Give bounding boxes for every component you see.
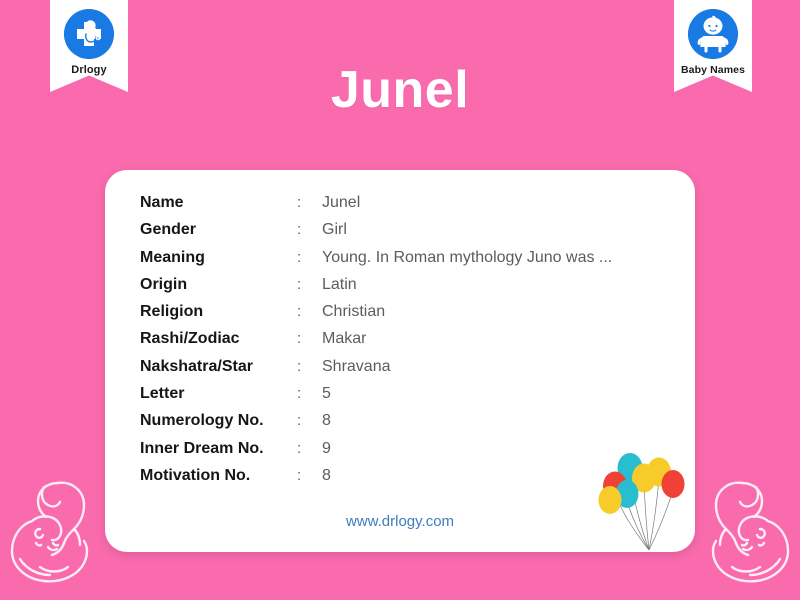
row-value: Girl [322,221,347,239]
row-label: Religion [140,303,297,321]
table-row: Origin : Latin [140,276,680,303]
detail-table: Name : Junel Gender : Girl Meaning : You… [140,194,680,494]
row-label: Origin [140,276,297,294]
row-separator: : [297,330,322,347]
table-row: Nakshatra/Star : Shravana [140,358,680,385]
table-row: Numerology No. : 8 [140,412,680,439]
row-value: 8 [322,467,331,485]
row-separator: : [297,467,322,484]
table-row: Inner Dream No. : 9 [140,440,680,467]
mother-and-baby-icon [694,463,800,598]
page-title: Junel [0,64,800,116]
row-label: Letter [140,385,297,403]
row-value: 5 [322,385,331,403]
row-label: Nakshatra/Star [140,358,297,376]
row-value: Shravana [322,358,391,376]
row-separator: : [297,303,322,320]
row-separator: : [297,194,322,211]
mother-and-baby-icon [0,463,106,598]
row-separator: : [297,385,322,402]
row-label: Numerology No. [140,412,297,430]
baby-icon [688,9,738,59]
row-label: Rashi/Zodiac [140,330,297,348]
table-row: Gender : Girl [140,221,680,248]
row-value: Latin [322,276,357,294]
row-label: Motivation No. [140,467,297,485]
row-value: 9 [322,440,331,458]
row-label: Gender [140,221,297,239]
row-value: Makar [322,330,366,348]
row-label: Meaning [140,249,297,267]
row-separator: : [297,412,322,429]
row-separator: : [297,276,322,293]
table-row: Name : Junel [140,194,680,221]
table-row: Letter : 5 [140,385,680,412]
row-value: Young. In Roman mythology Juno was ... [322,249,612,267]
row-separator: : [297,358,322,375]
table-row: Meaning : Young. In Roman mythology Juno… [140,249,680,276]
row-separator: : [297,440,322,457]
table-row: Rashi/Zodiac : Makar [140,330,680,357]
table-row: Motivation No. : 8 [140,467,680,494]
table-row: Religion : Christian [140,303,680,330]
row-separator: : [297,249,322,266]
row-separator: : [297,221,322,238]
row-value: Junel [322,194,360,212]
row-label: Name [140,194,297,212]
row-value: 8 [322,412,331,430]
name-detail-card: Name : Junel Gender : Girl Meaning : You… [105,170,695,552]
row-label: Inner Dream No. [140,440,297,458]
doctor-cross-icon: P [64,9,114,59]
row-value: Christian [322,303,385,321]
website-link[interactable]: www.drlogy.com [105,513,695,530]
